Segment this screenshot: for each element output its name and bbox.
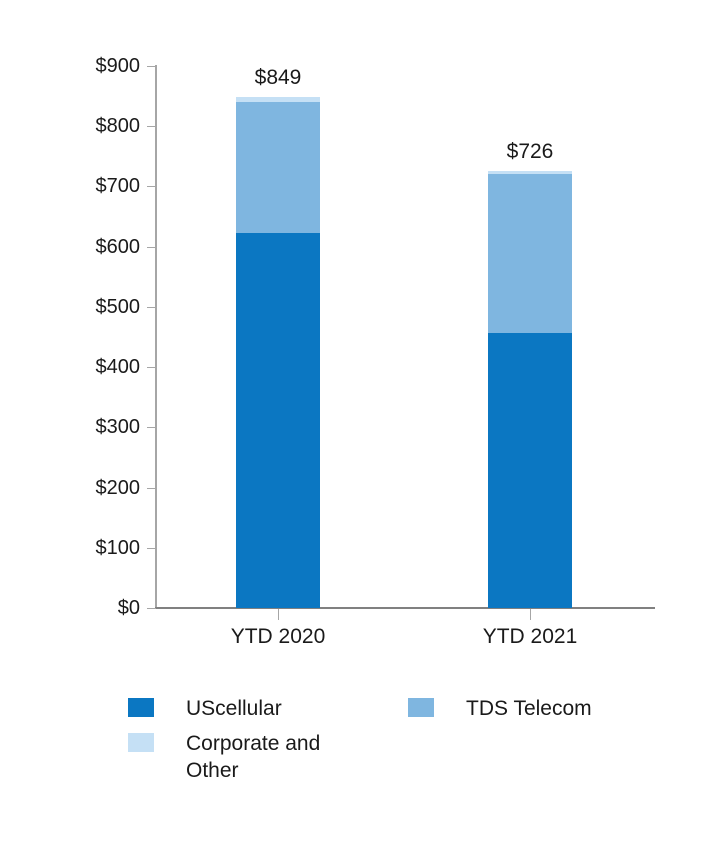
y-axis-tick-label: $900: [20, 56, 140, 76]
legend-label-tds-telecom: TDS Telecom: [466, 695, 666, 722]
legend-swatch-uscellular: [128, 698, 154, 717]
bar-ytd-2021: [488, 171, 572, 608]
y-axis-tick-label: $700: [20, 176, 140, 196]
y-axis-tick-label: $100: [20, 538, 140, 558]
y-axis-tick: [147, 488, 156, 489]
y-axis-tick-label: $200: [20, 478, 140, 498]
y-axis-tick-label: $600: [20, 237, 140, 257]
y-axis-tick-label: $300: [20, 417, 140, 437]
x-axis-category-label: YTD 2020: [188, 625, 368, 649]
y-axis-tick-label: $800: [20, 116, 140, 136]
y-axis-tick: [147, 307, 156, 308]
y-axis-tick-label: $400: [20, 357, 140, 377]
legend-swatch-corporate-and-other: [128, 733, 154, 752]
legend-label-corporate-and-other: Corporate and Other: [186, 730, 346, 784]
y-axis-tick: [147, 186, 156, 187]
bar-segment-uscellular: [236, 233, 320, 608]
bar-segment-tds-telecom: [488, 174, 572, 333]
x-axis-tick: [530, 609, 531, 620]
y-axis-tick-label: $500: [20, 297, 140, 317]
y-axis-tick: [147, 548, 156, 549]
y-axis-tick: [147, 126, 156, 127]
y-axis-tick: [147, 367, 156, 368]
bar-segment-uscellular: [488, 333, 572, 608]
x-axis-line: [155, 607, 655, 609]
y-axis-line: [155, 65, 157, 609]
legend-label-uscellular: UScellular: [186, 695, 386, 722]
bar-ytd-2020: [236, 97, 320, 608]
y-axis-tick: [147, 608, 156, 609]
stacked-bar-chart: $900$800$700$600$500$400$300$200$100$0 $…: [0, 0, 720, 858]
chart-legend: UScellular TDS Telecom Corporate and Oth…: [0, 690, 720, 800]
y-axis-tick: [147, 66, 156, 67]
y-axis-tick: [147, 247, 156, 248]
x-axis-tick: [278, 609, 279, 620]
legend-swatch-tds-telecom: [408, 698, 434, 717]
y-axis-tick: [147, 427, 156, 428]
bar-total-label: $849: [208, 67, 348, 88]
bar-segment-tds-telecom: [236, 102, 320, 234]
x-axis-category-label: YTD 2021: [440, 625, 620, 649]
bar-total-label: $726: [460, 141, 600, 162]
y-axis-tick-label: $0: [20, 598, 140, 618]
